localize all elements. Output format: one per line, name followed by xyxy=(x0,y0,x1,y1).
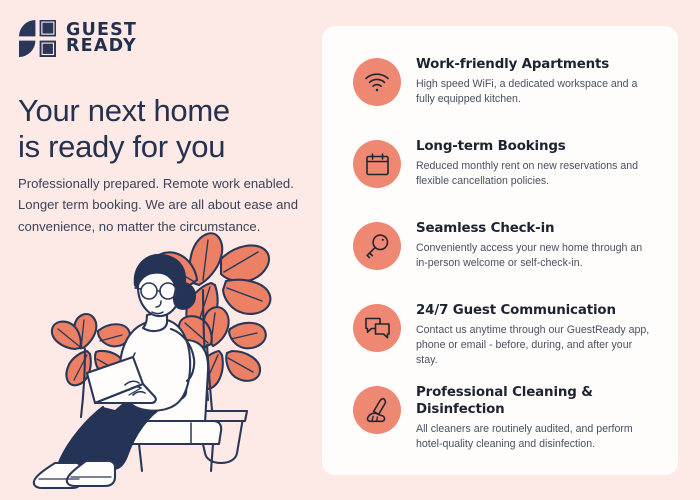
headline-line-1: Your next home xyxy=(18,93,230,128)
calendar-icon xyxy=(353,140,401,188)
feature-item[interactable]: Professional Cleaning & Disinfection All… xyxy=(353,384,653,452)
feature-description: Reduced monthly rent on new reservations… xyxy=(416,159,653,190)
brand-name-line2: READY xyxy=(66,38,137,54)
woman-on-laptop-with-plants-illustration xyxy=(25,225,315,490)
feature-title: Work-friendly Apartments xyxy=(416,57,653,74)
feature-title: 24/7 Guest Communication xyxy=(416,303,653,320)
feature-item[interactable]: Long-term Bookings Reduced monthly rent … xyxy=(353,138,653,189)
feature-description: High speed WiFi, a dedicated workspace a… xyxy=(416,77,653,108)
brand-logo[interactable]: GUEST READY xyxy=(18,19,137,57)
hero-column: GUEST READY Your next home is ready for … xyxy=(0,0,320,500)
chat-bubbles-icon xyxy=(353,304,401,352)
feature-description: All cleaners are routinely audited, and … xyxy=(416,422,653,453)
feature-title: Seamless Check-in xyxy=(416,221,653,238)
broom-icon xyxy=(353,386,401,434)
feature-item[interactable]: 24/7 Guest Communication Contact us anyt… xyxy=(353,302,653,369)
features-card: Work-friendly Apartments High speed WiFi… xyxy=(322,26,678,475)
feature-text: Work-friendly Apartments High speed WiFi… xyxy=(416,56,653,107)
feature-title: Long-term Bookings xyxy=(416,139,653,156)
headline-line-2: is ready for you xyxy=(18,129,308,165)
brand-wordmark: GUEST READY xyxy=(66,22,137,54)
feature-title: Professional Cleaning & Disinfection xyxy=(416,385,653,419)
feature-description: Conveniently access your new home throug… xyxy=(416,241,653,272)
promo-page: GUEST READY Your next home is ready for … xyxy=(0,0,700,500)
wifi-icon xyxy=(353,58,401,106)
guestready-logo-mark xyxy=(18,19,57,57)
page-title: Your next home is ready for you xyxy=(18,93,308,165)
feature-text: Seamless Check-in Conveniently access yo… xyxy=(416,220,653,271)
feature-text: Long-term Bookings Reduced monthly rent … xyxy=(416,138,653,189)
key-icon xyxy=(353,222,401,270)
feature-description: Contact us anytime through our GuestRead… xyxy=(416,323,653,369)
feature-text: Professional Cleaning & Disinfection All… xyxy=(416,384,653,452)
feature-text: 24/7 Guest Communication Contact us anyt… xyxy=(416,302,653,369)
feature-item[interactable]: Work-friendly Apartments High speed WiFi… xyxy=(353,56,653,107)
feature-item[interactable]: Seamless Check-in Conveniently access yo… xyxy=(353,220,653,271)
